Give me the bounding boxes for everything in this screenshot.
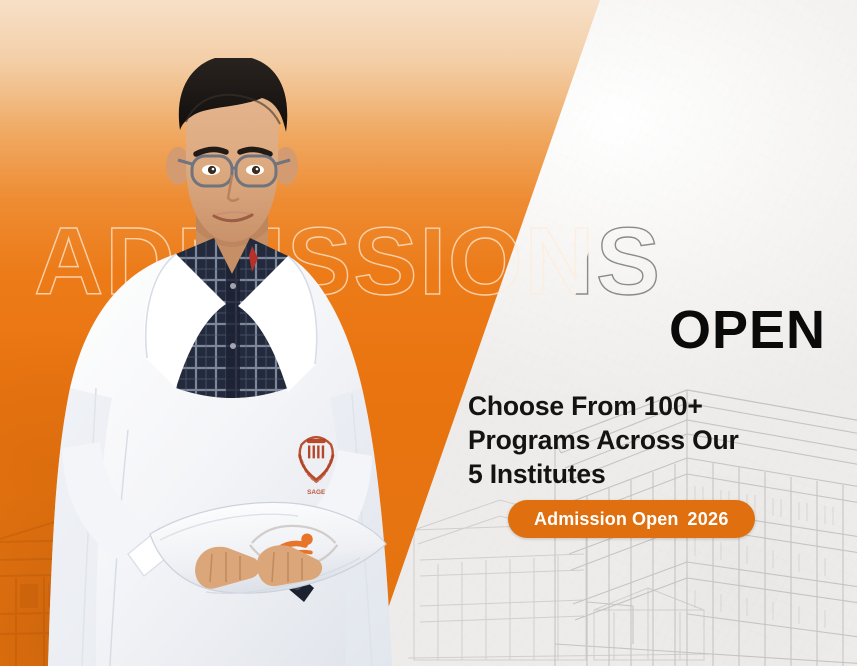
headline-line-2: Programs Across Our (468, 424, 788, 458)
admission-open-button[interactable]: Admission Open 2026 (508, 500, 755, 538)
admission-open-button-label: Admission Open (534, 509, 678, 530)
headline-line-3: 5 Institutes (468, 458, 788, 492)
admissions-banner: ADMISSIONS ADMISSIONS (0, 0, 857, 666)
headline-line-1: Choose From 100+ (468, 390, 788, 424)
student-photo: SAGE (0, 58, 460, 666)
open-heading: OPEN (669, 303, 826, 357)
admission-open-button-year: 2026 (687, 509, 728, 530)
page-title: Choose From 100+ Programs Across Our 5 I… (468, 390, 788, 492)
svg-text:SAGE: SAGE (307, 489, 326, 496)
